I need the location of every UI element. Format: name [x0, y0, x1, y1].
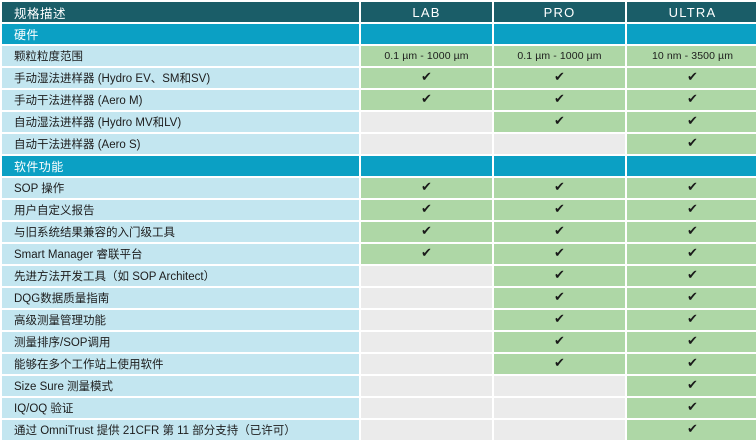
section-band-fill [627, 24, 756, 44]
checkmark-icon: ✔ [687, 247, 698, 260]
checkmark-icon: ✔ [687, 137, 698, 150]
checkmark-icon: ✔ [554, 115, 565, 128]
table-row: 先进方法开发工具（如 SOP Architect）✔✔ [2, 266, 756, 286]
cell-lab-not-supported [361, 376, 492, 396]
cell-pro-not-supported [494, 134, 625, 154]
header-column-lab: LAB [361, 2, 492, 22]
checkmark-icon: ✔ [687, 71, 698, 84]
checkmark-icon: ✔ [687, 269, 698, 282]
checkmark-icon: ✔ [554, 93, 565, 106]
table-row: 颗粒粒度范围0.1 µm - 1000 µm0.1 µm - 1000 µm10… [2, 46, 756, 66]
checkmark-icon: ✔ [687, 203, 698, 216]
cell-lab-not-supported [361, 420, 492, 440]
feature-label: 先进方法开发工具（如 SOP Architect） [2, 266, 359, 286]
cell-ultra-supported: ✔ [627, 266, 756, 286]
feature-label: 自动湿法进样器 (Hydro MV和LV) [2, 112, 359, 132]
table-row: 自动干法进样器 (Aero S)✔ [2, 134, 756, 154]
cell-pro-not-supported [494, 376, 625, 396]
checkmark-icon: ✔ [687, 379, 698, 392]
cell-ultra-supported: ✔ [627, 222, 756, 242]
cell-ultra-supported: ✔ [627, 310, 756, 330]
cell-ultra-supported: ✔ [627, 178, 756, 198]
cell-pro-value: 0.1 µm - 1000 µm [494, 46, 625, 66]
table-row: Smart Manager 睿联平台✔✔✔ [2, 244, 756, 264]
checkmark-icon: ✔ [687, 93, 698, 106]
section-band-fill [361, 156, 492, 176]
header-column-pro: PRO [494, 2, 625, 22]
cell-pro-supported: ✔ [494, 354, 625, 374]
section-band-fill [494, 156, 625, 176]
cell-lab-value: 0.1 µm - 1000 µm [361, 46, 492, 66]
table-header: 规格描述 LAB PRO ULTRA [2, 2, 756, 22]
checkmark-icon: ✔ [554, 71, 565, 84]
cell-pro-supported: ✔ [494, 200, 625, 220]
cell-ultra-supported: ✔ [627, 244, 756, 264]
cell-lab-supported: ✔ [361, 222, 492, 242]
cell-ultra-supported: ✔ [627, 68, 756, 88]
checkmark-icon: ✔ [554, 225, 565, 238]
feature-label: 颗粒粒度范围 [2, 46, 359, 66]
section-header-row: 硬件 [2, 24, 756, 44]
cell-lab-supported: ✔ [361, 90, 492, 110]
table-row: 通过 OmniTrust 提供 21CFR 第 11 部分支持（已许可）✔ [2, 420, 756, 440]
table-row: 自动湿法进样器 (Hydro MV和LV)✔✔ [2, 112, 756, 132]
checkmark-icon: ✔ [421, 71, 432, 84]
cell-ultra-supported: ✔ [627, 112, 756, 132]
checkmark-icon: ✔ [554, 269, 565, 282]
table-row: SOP 操作✔✔✔ [2, 178, 756, 198]
cell-pro-not-supported [494, 398, 625, 418]
cell-ultra-supported: ✔ [627, 200, 756, 220]
checkmark-icon: ✔ [687, 291, 698, 304]
checkmark-icon: ✔ [554, 247, 565, 260]
table-row: 与旧系统结果兼容的入门级工具✔✔✔ [2, 222, 756, 242]
checkmark-icon: ✔ [421, 225, 432, 238]
cell-ultra-supported: ✔ [627, 90, 756, 110]
cell-pro-supported: ✔ [494, 310, 625, 330]
feature-label: Smart Manager 睿联平台 [2, 244, 359, 264]
product-comparison-table: 规格描述 LAB PRO ULTRA 硬件颗粒粒度范围0.1 µm - 1000… [0, 0, 756, 442]
section-header-row: 软件功能 [2, 156, 756, 176]
cell-pro-supported: ✔ [494, 266, 625, 286]
checkmark-icon: ✔ [687, 225, 698, 238]
checkmark-icon: ✔ [687, 115, 698, 128]
checkmark-icon: ✔ [554, 291, 565, 304]
cell-pro-supported: ✔ [494, 178, 625, 198]
checkmark-icon: ✔ [687, 313, 698, 326]
feature-label: 能够在多个工作站上使用软件 [2, 354, 359, 374]
cell-lab-not-supported [361, 266, 492, 286]
checkmark-icon: ✔ [687, 401, 698, 414]
checkmark-icon: ✔ [554, 203, 565, 216]
checkmark-icon: ✔ [421, 203, 432, 216]
checkmark-icon: ✔ [421, 93, 432, 106]
table-row: 高级测量管理功能✔✔ [2, 310, 756, 330]
cell-pro-supported: ✔ [494, 112, 625, 132]
section-band-fill [627, 156, 756, 176]
cell-ultra-supported: ✔ [627, 332, 756, 352]
table-row: 用户自定义报告✔✔✔ [2, 200, 756, 220]
checkmark-icon: ✔ [687, 357, 698, 370]
feature-label: 用户自定义报告 [2, 200, 359, 220]
cell-ultra-supported: ✔ [627, 398, 756, 418]
feature-label: Size Sure 测量模式 [2, 376, 359, 396]
feature-label: 与旧系统结果兼容的入门级工具 [2, 222, 359, 242]
header-row: 规格描述 LAB PRO ULTRA [2, 2, 756, 22]
table-row: 能够在多个工作站上使用软件✔✔ [2, 354, 756, 374]
cell-lab-supported: ✔ [361, 178, 492, 198]
header-column-ultra: ULTRA [627, 2, 756, 22]
checkmark-icon: ✔ [421, 247, 432, 260]
cell-lab-not-supported [361, 398, 492, 418]
feature-label: IQ/OQ 验证 [2, 398, 359, 418]
feature-label: SOP 操作 [2, 178, 359, 198]
cell-lab-not-supported [361, 354, 492, 374]
cell-pro-supported: ✔ [494, 90, 625, 110]
feature-label: 自动干法进样器 (Aero S) [2, 134, 359, 154]
feature-label: DQG数据质量指南 [2, 288, 359, 308]
cell-lab-supported: ✔ [361, 244, 492, 264]
cell-pro-supported: ✔ [494, 332, 625, 352]
section-band-fill [361, 24, 492, 44]
checkmark-icon: ✔ [421, 181, 432, 194]
feature-label: 手动湿法进样器 (Hydro EV、SM和SV) [2, 68, 359, 88]
feature-label: 手动干法进样器 (Aero M) [2, 90, 359, 110]
checkmark-icon: ✔ [687, 335, 698, 348]
cell-pro-supported: ✔ [494, 288, 625, 308]
feature-label: 测量排序/SOP调用 [2, 332, 359, 352]
checkmark-icon: ✔ [687, 423, 698, 436]
table-row: Size Sure 测量模式✔ [2, 376, 756, 396]
table-row: 手动干法进样器 (Aero M)✔✔✔ [2, 90, 756, 110]
cell-ultra-supported: ✔ [627, 354, 756, 374]
cell-ultra-value: 10 nm - 3500 µm [627, 46, 756, 66]
checkmark-icon: ✔ [554, 335, 565, 348]
table-row: IQ/OQ 验证✔ [2, 398, 756, 418]
cell-ultra-supported: ✔ [627, 134, 756, 154]
checkmark-icon: ✔ [554, 357, 565, 370]
checkmark-icon: ✔ [554, 313, 565, 326]
feature-label: 高级测量管理功能 [2, 310, 359, 330]
table-row: 手动湿法进样器 (Hydro EV、SM和SV)✔✔✔ [2, 68, 756, 88]
cell-lab-not-supported [361, 310, 492, 330]
cell-lab-not-supported [361, 332, 492, 352]
cell-pro-supported: ✔ [494, 222, 625, 242]
cell-lab-not-supported [361, 134, 492, 154]
cell-pro-supported: ✔ [494, 68, 625, 88]
section-band-fill [494, 24, 625, 44]
header-spec-description: 规格描述 [2, 2, 359, 22]
cell-pro-not-supported [494, 420, 625, 440]
section-title: 硬件 [2, 24, 359, 44]
cell-lab-not-supported [361, 288, 492, 308]
cell-pro-supported: ✔ [494, 244, 625, 264]
table-row: DQG数据质量指南✔✔ [2, 288, 756, 308]
cell-lab-supported: ✔ [361, 200, 492, 220]
checkmark-icon: ✔ [554, 181, 565, 194]
cell-ultra-supported: ✔ [627, 288, 756, 308]
cell-lab-supported: ✔ [361, 68, 492, 88]
feature-label: 通过 OmniTrust 提供 21CFR 第 11 部分支持（已许可） [2, 420, 359, 440]
cell-lab-not-supported [361, 112, 492, 132]
cell-ultra-supported: ✔ [627, 376, 756, 396]
table-body: 硬件颗粒粒度范围0.1 µm - 1000 µm0.1 µm - 1000 µm… [2, 24, 756, 440]
section-title: 软件功能 [2, 156, 359, 176]
checkmark-icon: ✔ [687, 181, 698, 194]
table-row: 测量排序/SOP调用✔✔ [2, 332, 756, 352]
cell-ultra-supported: ✔ [627, 420, 756, 440]
